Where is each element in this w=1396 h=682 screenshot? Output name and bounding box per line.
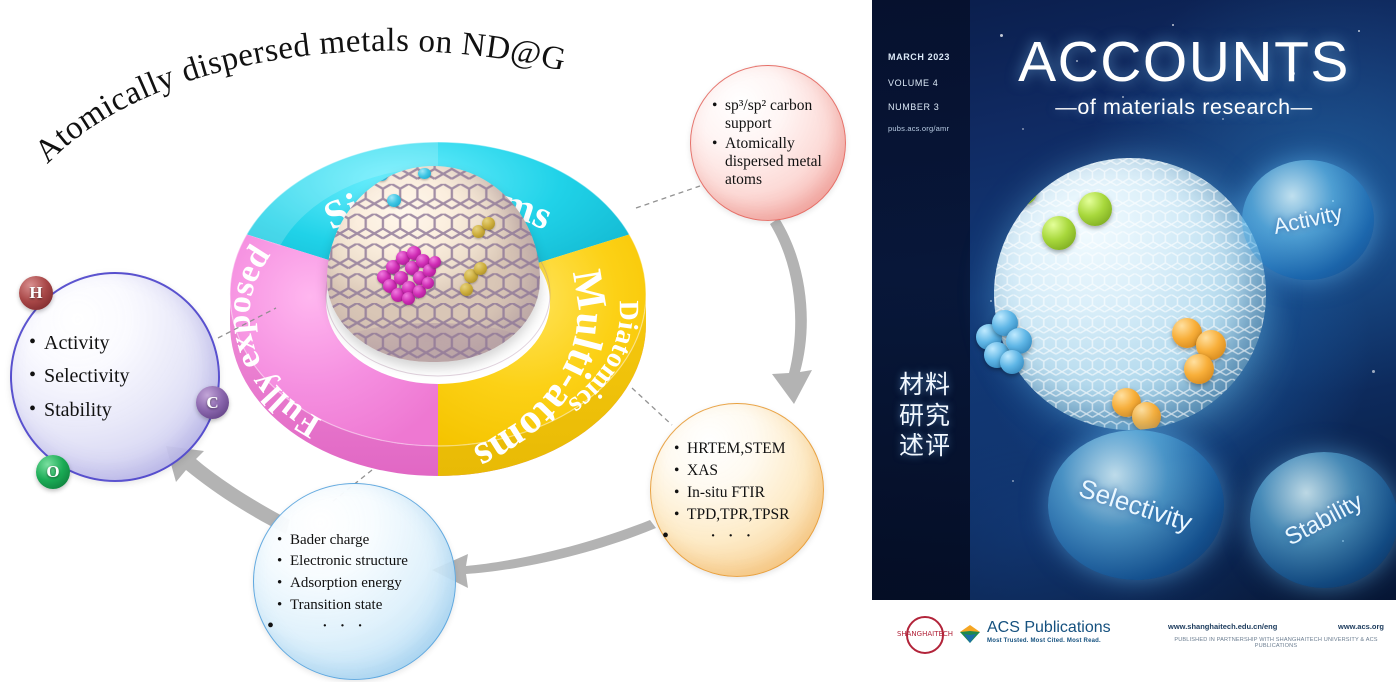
orb-activity: Activity	[1242, 160, 1374, 280]
diatomic-atom-2b	[474, 262, 487, 275]
characterization-bubble: HRTEM,STEM XAS In-situ FTIR TPD,TPR,TPSR…	[650, 403, 824, 577]
support-bubble: sp³/sp² carbon support Atomically disper…	[690, 65, 846, 221]
element-badge-hydrogen: H	[19, 276, 53, 310]
acs-publications-logo: ACS Publications Most Trusted. Most Cite…	[958, 620, 1111, 646]
acs-url[interactable]: www.acs.org	[1338, 622, 1384, 631]
cover-chinese-title: 材料研究述评	[888, 370, 962, 462]
acs-tagline: Most Trusted. Most Cited. Most Read.	[987, 638, 1111, 644]
cover-footer-urls: www.shanghaitech.edu.cn/eng www.acs.org …	[1168, 622, 1384, 649]
theory-item: Adsorption energy	[290, 573, 408, 595]
cover-journal-url[interactable]: pubs.acs.org/amr	[888, 124, 949, 133]
cover-nanosphere	[994, 158, 1266, 430]
metal-cluster	[375, 244, 443, 302]
cover-title-sub: —of materials research—	[972, 95, 1396, 120]
cover-left-band	[872, 0, 970, 600]
characterization-item: HRTEM,STEM	[687, 438, 790, 460]
cover-atom-green-1	[1004, 172, 1038, 206]
cover-volume: VOLUME 4	[888, 78, 938, 88]
partnership-note: PUBLISHED IN PARTNERSHIP WITH SHANGHAITE…	[1168, 637, 1384, 649]
characterization-item: In-situ FTIR	[687, 482, 790, 504]
shanghaitech-seal-icon: SHANGHAITECH	[906, 616, 944, 654]
cover-title-main: ACCOUNTS	[972, 34, 1396, 91]
acs-name: ACS Publications	[987, 620, 1111, 636]
cover-atom-green-2	[1078, 192, 1112, 226]
theory-item: Electronic structure	[290, 551, 408, 573]
acs-diamond-icon	[958, 622, 982, 646]
figure-root: Atomically dispersed metals on ND@G	[0, 0, 1396, 682]
single-atom-3	[387, 194, 401, 207]
cover-atom-green-3	[1042, 216, 1076, 250]
arrow-support-to-characterization	[770, 218, 812, 404]
orb-stability: Stability	[1250, 452, 1396, 588]
cover-masthead: ACCOUNTS —of materials research—	[972, 34, 1396, 120]
arrow-characterization-to-theory	[432, 520, 656, 588]
cover-artwork: Activity Selectivity Stability MARCH 202…	[872, 0, 1396, 600]
theory-bubble: Bader charge Electronic structure Adsorp…	[253, 483, 456, 680]
cover-number: NUMBER 3	[888, 102, 939, 112]
cover-blue-cluster	[976, 310, 1046, 372]
performance-item: Stability	[44, 394, 130, 427]
shanghaitech-url[interactable]: www.shanghaitech.edu.cn/eng	[1168, 622, 1277, 631]
single-atom-2	[418, 168, 431, 179]
characterization-item: TPD,TPR,TPSR	[687, 504, 790, 526]
journal-cover: Activity Selectivity Stability MARCH 202…	[872, 0, 1396, 682]
cover-atom-orange-5	[1132, 402, 1161, 430]
element-badge-oxygen: O	[36, 455, 70, 489]
performance-item: Selectivity	[44, 360, 130, 393]
support-item: Atomically dispersed metal atoms	[725, 135, 845, 189]
cover-footer: SHANGHAITECH ACS Publications Most Trust…	[872, 600, 1396, 682]
orb-selectivity-label: Selectivity	[1076, 472, 1197, 538]
theory-ellipsis: · · ·	[280, 619, 408, 633]
orb-activity-label: Activity	[1271, 200, 1345, 240]
single-atom-1	[375, 170, 388, 181]
performance-item: Activity	[44, 327, 130, 360]
schematic-panel: Atomically dispersed metals on ND@G	[0, 0, 868, 682]
support-item: sp³/sp² carbon support	[725, 97, 845, 133]
diatomic-atom-3a	[460, 283, 473, 296]
element-badge-carbon: C	[196, 386, 229, 419]
cover-atom-orange-3	[1184, 354, 1214, 384]
theory-item: Transition state	[290, 595, 408, 617]
diatomic-atom-1b	[482, 217, 495, 230]
orb-stability-label: Stability	[1280, 488, 1367, 552]
characterization-item: XAS	[687, 460, 790, 482]
theory-item: Bader charge	[290, 530, 408, 552]
orb-selectivity: Selectivity	[1048, 430, 1224, 580]
cover-issue-date: MARCH 2023	[888, 52, 950, 62]
characterization-ellipsis: · · ·	[675, 529, 790, 543]
carbon-nanosphere	[327, 166, 540, 362]
